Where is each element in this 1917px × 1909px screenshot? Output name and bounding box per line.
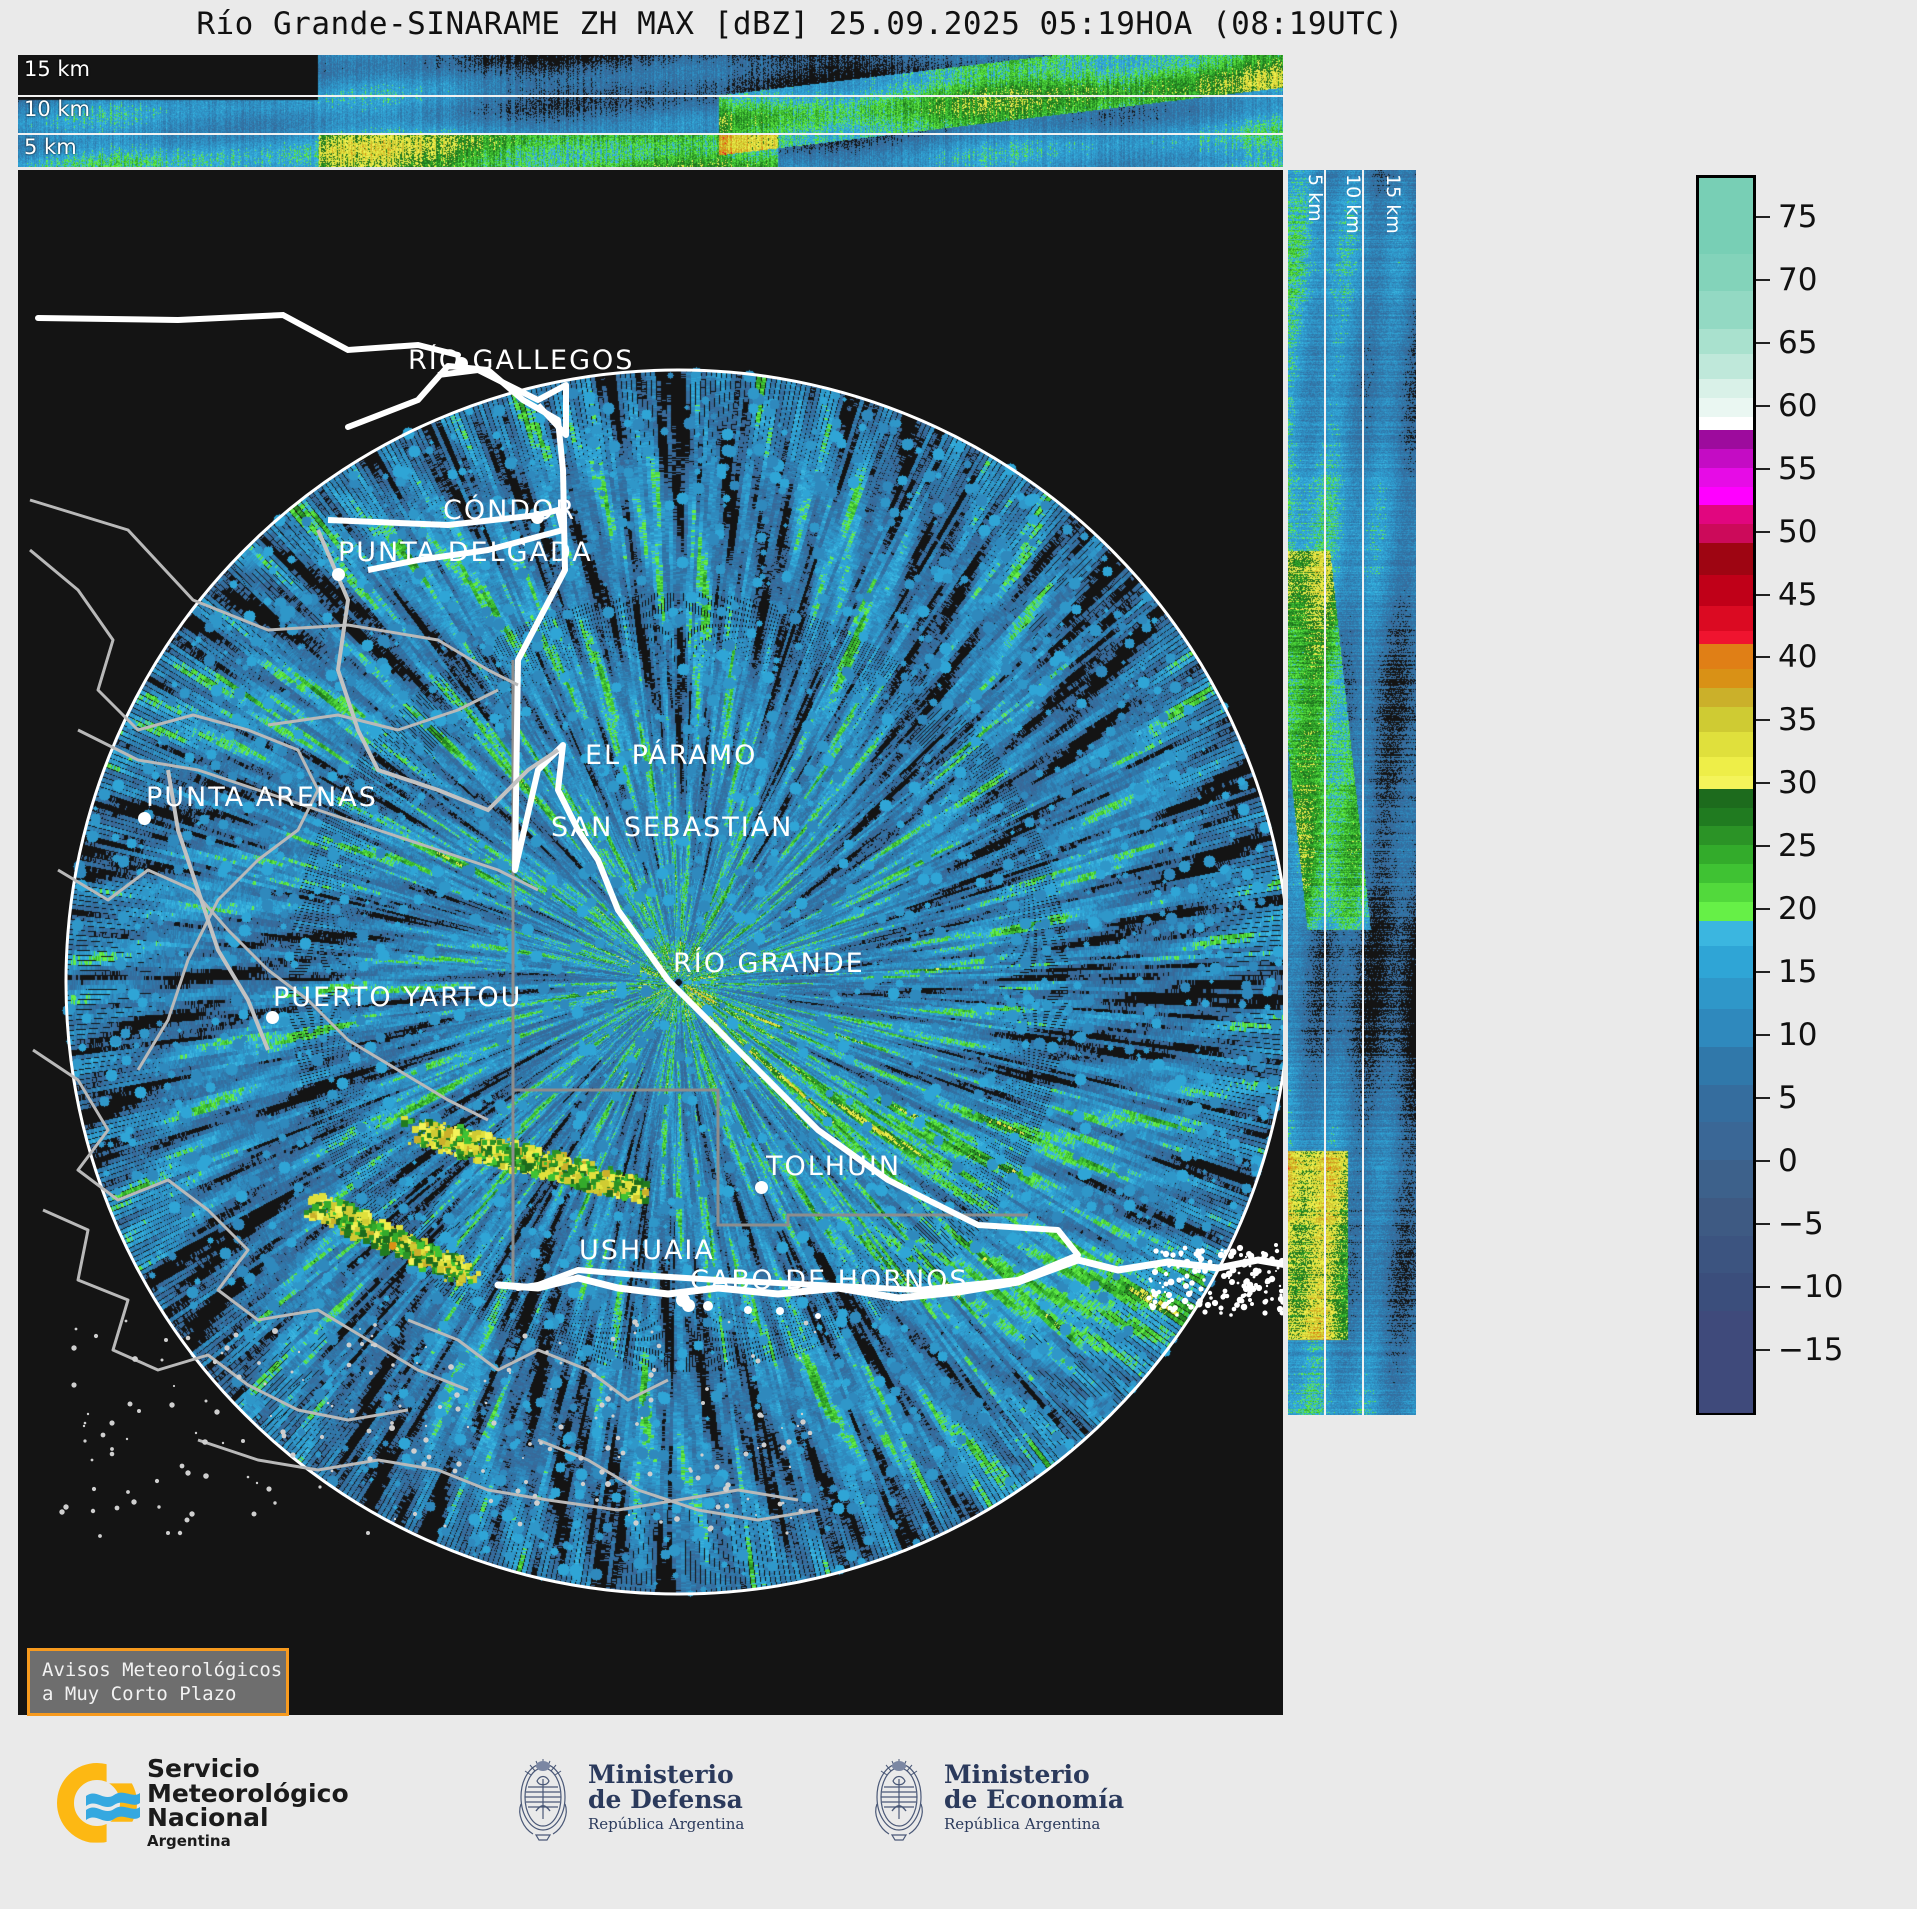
colorbar-segment (1699, 1412, 1753, 1413)
height-gridline-right-10km (1362, 170, 1364, 1415)
colorbar-segment (1699, 1009, 1753, 1047)
colorbar-segment (1699, 1047, 1753, 1085)
city-label-el-p-ramo: EL PÁRAMO (585, 740, 757, 771)
page-title: Río Grande-SINARAME ZH MAX [dBZ] 25.09.2… (0, 6, 1600, 42)
colorbar-segment (1699, 808, 1753, 827)
colorbar-tick-label: 15 (1778, 954, 1817, 990)
radar-ppi-panel[interactable]: RÍO GALLEGOSCÓNDORPUNTA DELGADAEL PÁRAMO… (18, 170, 1283, 1715)
colorbar-segment (1699, 430, 1753, 449)
colorbar-segment (1699, 398, 1753, 417)
city-label-puerto-yartou: PUERTO YARTOU (273, 982, 522, 1013)
ministerio-economia-text: Ministerio de Economía República Argenti… (944, 1762, 1124, 1832)
colorbar-segment (1699, 329, 1753, 355)
colorbar-tick-label: 40 (1778, 639, 1817, 675)
defensa-line-1: Ministerio (588, 1762, 744, 1788)
colorbar-segment (1699, 1198, 1753, 1236)
smn-line-1: Servicio (147, 1757, 349, 1782)
argentina-coat-of-arms-icon (868, 1749, 930, 1845)
colorbar-tick-label: 55 (1778, 451, 1817, 487)
colorbar-tick (1756, 1097, 1770, 1099)
colorbar-tick (1756, 342, 1770, 344)
colorbar-segment (1699, 291, 1753, 329)
defensa-line-3: República Argentina (588, 1817, 744, 1832)
colorbar-segment (1699, 178, 1753, 254)
economia-line-3: República Argentina (944, 1817, 1124, 1832)
colorbar-tick (1756, 1349, 1770, 1351)
colorbar-segment (1699, 1085, 1753, 1123)
right-xs-label-10km: 10 km (1342, 174, 1364, 234)
top-cross-section-image (18, 55, 1283, 167)
warning-line-2: a Muy Corto Plazo (42, 1682, 286, 1706)
top-xs-label-5km: 5 km (24, 135, 77, 159)
argentina-coat-of-arms-icon (512, 1749, 574, 1845)
right-xs-label-5km: 5 km (1304, 174, 1326, 222)
colorbar-tick-label: 20 (1778, 891, 1817, 927)
colorbar-segment (1699, 487, 1753, 506)
colorbar-tick-label: 0 (1778, 1143, 1798, 1179)
colorbar-segment (1699, 707, 1753, 733)
city-marker (332, 568, 345, 581)
economia-line-2: de Economía (944, 1787, 1124, 1813)
colorbar-segment (1699, 921, 1753, 947)
right-xs-label-15km: 15 km (1382, 174, 1404, 234)
colorbar-segment (1699, 789, 1753, 808)
colorbar-segment (1699, 688, 1753, 707)
colorbar-segment (1699, 669, 1753, 688)
colorbar-segment (1699, 254, 1753, 292)
colorbar-segment (1699, 575, 1753, 607)
colorbar-segment (1699, 606, 1753, 632)
colorbar-tick (1756, 594, 1770, 596)
smn-logo: Servicio Meteorológico Nacional Argentin… (57, 1757, 349, 1848)
city-marker (755, 1181, 768, 1194)
colorbar-tick (1756, 1223, 1770, 1225)
city-marker (138, 812, 151, 825)
economia-line-1: Ministerio (944, 1762, 1124, 1788)
colorbar-tick (1756, 1034, 1770, 1036)
colorbar-tick (1756, 656, 1770, 658)
defensa-line-2: de Defensa (588, 1787, 744, 1813)
colorbar-tick-label: 10 (1778, 1017, 1817, 1053)
top-xs-label-10km: 10 km (24, 97, 90, 121)
top-xs-label-15km: 15 km (24, 57, 90, 81)
colorbar-segment (1699, 864, 1753, 883)
ministerio-economia-logo: Ministerio de Economía República Argenti… (868, 1749, 1124, 1845)
colorbar-segment (1699, 543, 1753, 575)
colorbar-segment (1699, 644, 1753, 670)
colorbar-segment (1699, 417, 1753, 430)
city-label-san-sebasti-n: SAN SEBASTIÁN (551, 812, 793, 843)
colorbar-tick-label: −10 (1778, 1269, 1843, 1305)
colorbar-tick (1756, 1286, 1770, 1288)
colorbar-tick (1756, 908, 1770, 910)
colorbar-segment (1699, 1273, 1753, 1311)
colorbar-segment (1699, 449, 1753, 468)
colorbar-segment (1699, 902, 1753, 921)
colorbar-segment (1699, 1160, 1753, 1198)
colorbar-segment (1699, 524, 1753, 543)
colorbar-axis: 757065605550454035302520151050−5−10−15 (1756, 175, 1906, 1415)
ministerio-defensa-text: Ministerio de Defensa República Argentin… (588, 1762, 744, 1832)
colorbar-segment (1699, 757, 1753, 776)
top-cross-section-panel: 15 km 10 km 5 km (18, 55, 1283, 167)
colorbar-tick-label: 35 (1778, 702, 1817, 738)
colorbar-tick (1756, 782, 1770, 784)
colorbar-tick-label: 50 (1778, 514, 1817, 550)
colorbar-segment (1699, 883, 1753, 902)
colorbar-segment (1699, 845, 1753, 864)
right-cross-section-image (1288, 170, 1416, 1415)
colorbar-segment (1699, 776, 1753, 789)
right-cross-section-panel: 5 km 10 km 15 km (1288, 170, 1416, 1415)
colorbar-tick-label: 25 (1778, 828, 1817, 864)
smn-wave-icon (84, 1787, 142, 1823)
footer-logos: Servicio Meteorológico Nacional Argentin… (0, 1725, 1600, 1909)
colorbar-tick (1756, 279, 1770, 281)
colorbar-segment (1699, 379, 1753, 398)
colorbar-segment (1699, 826, 1753, 845)
colorbar-tick (1756, 468, 1770, 470)
colorbar-tick (1756, 531, 1770, 533)
height-gridline-5km (18, 133, 1283, 135)
city-label-r-o-gallegos: RÍO GALLEGOS (408, 345, 634, 376)
colorbar-segment (1699, 468, 1753, 487)
colorbar-tick-label: 60 (1778, 388, 1817, 424)
colorbar-tick (1756, 845, 1770, 847)
city-marker (682, 1299, 695, 1312)
city-label-ushuaia: USHUAIA (579, 1235, 715, 1266)
height-gridline-10km (18, 95, 1283, 97)
colorbar-tick (1756, 405, 1770, 407)
colorbar-tick-label: −15 (1778, 1332, 1843, 1368)
colorbar-segment (1699, 1236, 1753, 1274)
colorbar-segment (1699, 946, 1753, 978)
smn-line-4: Argentina (147, 1834, 349, 1849)
colorbar-tick-label: 5 (1778, 1080, 1798, 1116)
radar-product-page: Río Grande-SINARAME ZH MAX [dBZ] 25.09.2… (0, 0, 1917, 1909)
smn-mark-icon (57, 1763, 137, 1843)
city-label-tolhuin: TOLHUIN (766, 1151, 901, 1182)
colorbar-tick-label: 75 (1778, 199, 1817, 235)
colorbar-tick-label: 70 (1778, 262, 1817, 298)
colorbar-segment (1699, 631, 1753, 644)
colorbar-segment (1699, 978, 1753, 1010)
colorbar-segment (1699, 1122, 1753, 1160)
colorbar (1696, 175, 1756, 1415)
colorbar-tick-label: −5 (1778, 1206, 1824, 1242)
colorbar-segment (1699, 354, 1753, 380)
warning-line-1: Avisos Meteorológicos (42, 1658, 286, 1682)
colorbar-tick-label: 45 (1778, 577, 1817, 613)
warning-badge[interactable]: Avisos Meteorológicos a Muy Corto Plazo (27, 1648, 289, 1716)
map-overlay (18, 170, 1283, 1715)
city-label-c-ndor: CÓNDOR (443, 495, 576, 526)
colorbar-segment (1699, 732, 1753, 758)
colorbar-tick (1756, 1160, 1770, 1162)
city-label-punta-delgada: PUNTA DELGADA (338, 537, 593, 568)
ministerio-defensa-logo: Ministerio de Defensa República Argentin… (512, 1749, 744, 1845)
city-label-r-o-grande: RÍO GRANDE (673, 948, 865, 979)
colorbar-segment (1699, 1311, 1753, 1412)
city-label-punta-arenas: PUNTA ARENAS (146, 782, 378, 813)
colorbar-tick (1756, 971, 1770, 973)
smn-line-3: Nacional (147, 1806, 349, 1831)
height-gridline-right-5km (1324, 170, 1326, 1415)
colorbar-segment (1699, 505, 1753, 524)
smn-logo-text: Servicio Meteorológico Nacional Argentin… (147, 1757, 349, 1848)
colorbar-tick-label: 30 (1778, 765, 1817, 801)
city-label-cabo-de-hornos: CABO DE HORNOS (690, 1265, 969, 1296)
colorbar-tick (1756, 719, 1770, 721)
colorbar-tick (1756, 216, 1770, 218)
colorbar-tick-label: 65 (1778, 325, 1817, 361)
